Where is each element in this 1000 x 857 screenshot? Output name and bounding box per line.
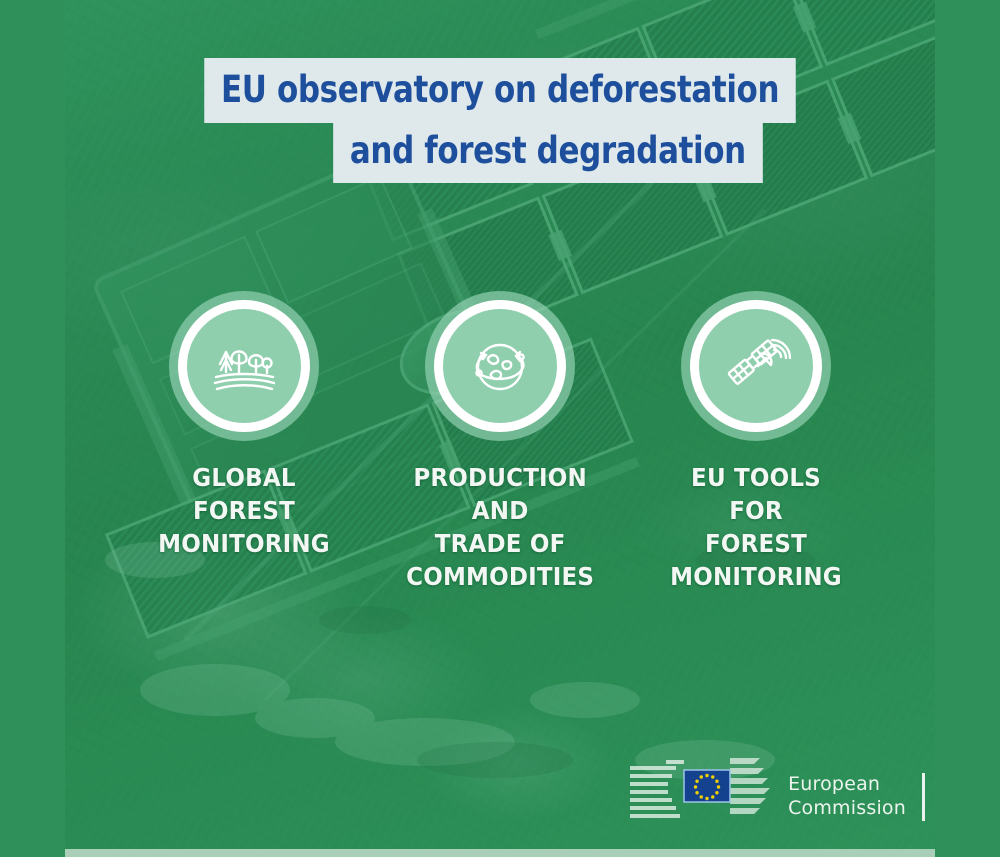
forest-landscape-icon — [206, 328, 282, 404]
globe-trade-icon — [462, 328, 538, 404]
feature-label-line-1: EU TOOLS FOR — [691, 463, 821, 525]
title-line-2: and forest degradation — [65, 119, 935, 184]
feature-label-line-1: PRODUCTION AND — [413, 463, 587, 525]
satellite-signal-icon — [718, 328, 794, 404]
european-commission-logo: European Commission — [628, 756, 925, 837]
feature-global-forest-monitoring[interactable]: GLOBAL FOREST MONITORING — [144, 300, 344, 593]
eu-flag-emblem-icon — [628, 756, 778, 837]
feature-label-line-3: COMMODITIES — [406, 562, 594, 591]
bottom-strip — [65, 849, 935, 857]
background-image: EU observatory on deforestation and fore… — [65, 0, 935, 849]
logo-divider-rule — [922, 773, 925, 821]
feature-label-line-3: MONITORING — [670, 562, 842, 591]
feature-label-line-2: FOREST — [705, 529, 807, 558]
poster-root: EU observatory on deforestation and fore… — [0, 0, 1000, 857]
title-banner-1: EU observatory on deforestation — [204, 58, 796, 123]
ec-wordmark-line-2: Commission — [788, 797, 906, 819]
ec-wordmark: European Commission — [788, 773, 906, 819]
title-banner-2: and forest degradation — [333, 119, 762, 184]
feature-icon-circle[interactable] — [434, 300, 566, 432]
feature-label-line-2: MONITORING — [158, 529, 330, 558]
feature-production-and-trade[interactable]: PRODUCTION AND TRADE OF COMMODITIES — [400, 300, 600, 593]
feature-label-line-2: TRADE OF — [435, 529, 566, 558]
page-title: EU observatory on deforestation and fore… — [65, 58, 935, 183]
ec-wordmark-line-1: European — [788, 773, 880, 795]
feature-label: GLOBAL FOREST MONITORING — [152, 461, 336, 560]
feature-list: GLOBAL FOREST MONITORING — [65, 300, 935, 593]
feature-eu-tools-for-forest-monitoring[interactable]: EU TOOLS FOR FOREST MONITORING — [656, 300, 856, 593]
feature-icon-circle[interactable] — [178, 300, 310, 432]
title-line-1: EU observatory on deforestation — [65, 58, 935, 123]
feature-label: EU TOOLS FOR FOREST MONITORING — [664, 461, 848, 593]
feature-label: PRODUCTION AND TRADE OF COMMODITIES — [406, 461, 594, 593]
feature-icon-circle[interactable] — [690, 300, 822, 432]
feature-label-line-1: GLOBAL FOREST — [192, 463, 295, 525]
